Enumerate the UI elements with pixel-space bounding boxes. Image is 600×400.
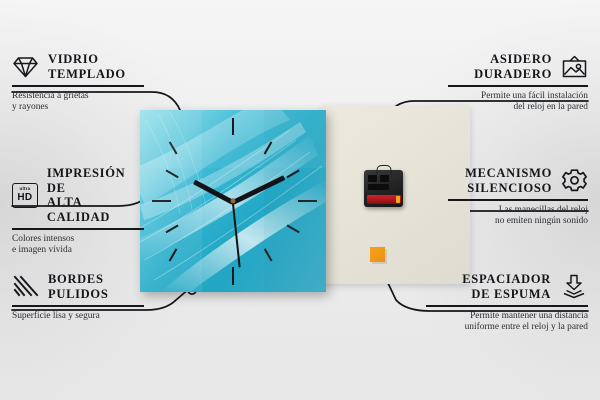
feature-title: DURADERO [474, 67, 552, 82]
mechanism-slot [368, 175, 377, 182]
clock-center-hub [231, 199, 236, 204]
feature-title: BORDES [48, 272, 108, 287]
feature-title: IMPRESIÓN DE [47, 166, 144, 195]
feature-desc: uniforme entre el reloj y la pared [426, 322, 588, 334]
feature-desc: no emiten ningún sonido [448, 216, 588, 228]
feature-desc: Superficie lisa y segura [12, 311, 144, 323]
foam-spacer [370, 247, 385, 262]
clock-tick-9 [152, 200, 171, 203]
feature-title: DE ESPUMA [462, 287, 551, 302]
feature-divider [448, 85, 588, 87]
feature-title: MECANISMO [465, 166, 552, 181]
wall-clock-product [140, 110, 326, 292]
diagonal-stripes-icon [12, 275, 39, 299]
mechanism-battery [367, 195, 401, 204]
feature-desc: y rayones [12, 102, 144, 114]
feature-divider [448, 199, 588, 201]
feature-desc: Permite mantener una distancia [426, 311, 588, 323]
feature-bordes-pulidos: BORDES PULIDOS Superficie lisa y segura [12, 272, 144, 322]
feature-title: SILENCIOSO [465, 181, 552, 196]
feature-desc: Las manecillas del reloj [448, 205, 588, 217]
picture-frame-icon [561, 55, 588, 79]
feature-impresion-alta-calidad: ultra HD IMPRESIÓN DE ALTA CALIDAD Color… [12, 166, 144, 257]
feature-divider [426, 305, 588, 307]
clock-mechanism [364, 170, 403, 207]
feature-desc: Colores intensos [12, 234, 144, 246]
feature-title: ASIDERO [474, 52, 552, 67]
clock-tick-6 [232, 267, 235, 285]
feature-desc: e imagen vívida [12, 245, 144, 257]
feature-mecanismo-silencioso: MECANISMO SILENCIOSO Las manecillas del … [448, 166, 588, 228]
clock-tick-12 [232, 118, 235, 135]
feature-desc: Permite una fácil instalación [448, 91, 588, 103]
feature-espaciador-de-espuma: ESPACIADOR DE ESPUMA Permite mantener un… [426, 272, 588, 334]
feature-asidero-duradero: ASIDERO DURADERO Permite una fácil insta… [448, 52, 588, 114]
feature-title: ESPACIADOR [462, 272, 551, 287]
mechanism-slot [368, 184, 389, 190]
ultra-hd-icon: ultra HD [12, 183, 38, 208]
diamond-icon [12, 55, 39, 79]
feature-divider [12, 85, 144, 87]
feature-desc: del reloj en la pared [448, 102, 588, 114]
battery-terminal [396, 196, 400, 203]
ultra-hd-icon-main: HD [17, 193, 32, 203]
feature-divider [12, 228, 144, 230]
feature-title: ALTA CALIDAD [47, 195, 144, 224]
down-arrow-stack-icon [560, 274, 588, 299]
mechanism-slot [380, 175, 389, 182]
feature-divider [12, 305, 144, 307]
feature-desc: Resistencia a grietas [12, 91, 144, 103]
clock-tick-3 [298, 200, 317, 203]
feature-title: VIDRIO [48, 52, 126, 67]
feature-title: TEMPLADO [48, 67, 126, 82]
feature-vidrio-templado: VIDRIO TEMPLADO Resistencia a grietas y … [12, 52, 144, 114]
gear-icon [561, 168, 588, 193]
infographic-canvas: VIDRIO TEMPLADO Resistencia a grietas y … [0, 0, 600, 400]
mechanism-hanger-icon [376, 165, 391, 174]
feature-title: PULIDOS [48, 287, 108, 302]
